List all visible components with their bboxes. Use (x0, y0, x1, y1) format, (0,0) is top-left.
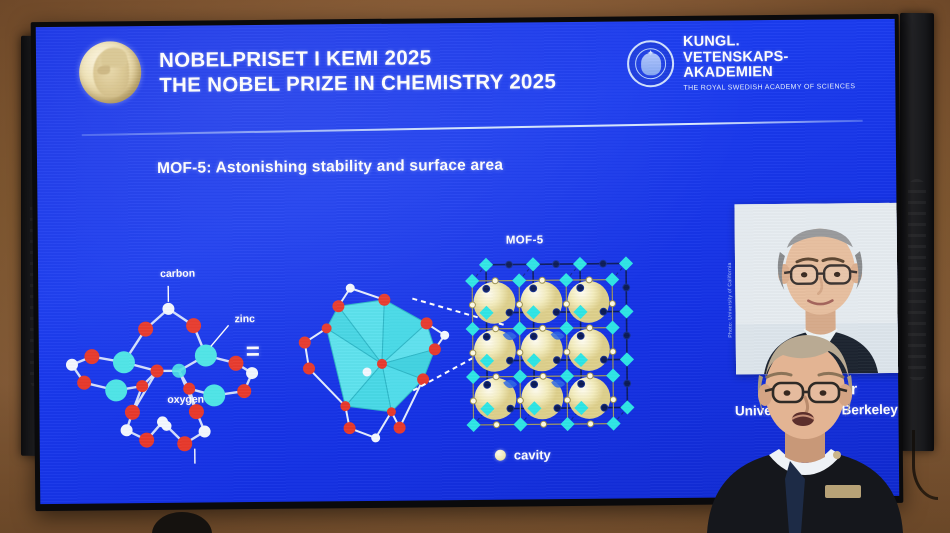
academy-subtitle: THE ROYAL SWEDISH ACADEMY OF SCIENCES (683, 83, 855, 92)
cavity-legend-label: cavity (514, 447, 551, 462)
nobel-medal-icon (79, 41, 142, 104)
label-zinc: zinc (234, 313, 255, 325)
label-carbon: carbon (160, 268, 195, 280)
cavity-marker-icon (495, 450, 506, 461)
academy-wordmark: KUNGL. VETENSKAPS- AKADEMIEN THE ROYAL S… (683, 33, 855, 91)
academy-line-3: AKADEMIEN (683, 64, 855, 81)
photo-credit: Photo: University of California (727, 262, 734, 337)
academy-logo: ✦ KUNGL. VETENSKAPS- AKADEMIEN THE ROYAL… (627, 33, 855, 92)
slide-subtitle: MOF-5: Astonishing stability and surface… (157, 157, 503, 178)
header-divider (82, 120, 863, 136)
audience-person (138, 500, 226, 533)
cavity-legend: cavity (495, 447, 551, 463)
seal-emblem (641, 53, 661, 75)
royal-academy-seal-icon: ✦ (627, 40, 674, 87)
zinc-atoms (105, 344, 226, 407)
presenter-person (697, 333, 912, 533)
slide-title: NOBELPRISET I KEMI 2025 THE NOBEL PRIZE … (159, 44, 556, 98)
medal-nose (97, 65, 110, 74)
equals-sign: = (246, 338, 260, 366)
label-oxygen: oxygen (167, 394, 204, 406)
title-line-swedish: NOBELPRISET I KEMI 2025 (159, 44, 556, 73)
mof5-lattice (458, 249, 650, 451)
seal-star: ✦ (647, 50, 655, 59)
medal-hair (101, 47, 127, 67)
slide-header: NOBELPRISET I KEMI 2025 THE NOBEL PRIZE … (36, 19, 896, 123)
mof5-structure-label: MOF-5 (506, 234, 544, 246)
title-line-english: THE NOBEL PRIZE IN CHEMISTRY 2025 (159, 69, 556, 98)
oxygen-atoms (77, 318, 252, 453)
academy-line-1: KUNGL. (683, 33, 855, 50)
